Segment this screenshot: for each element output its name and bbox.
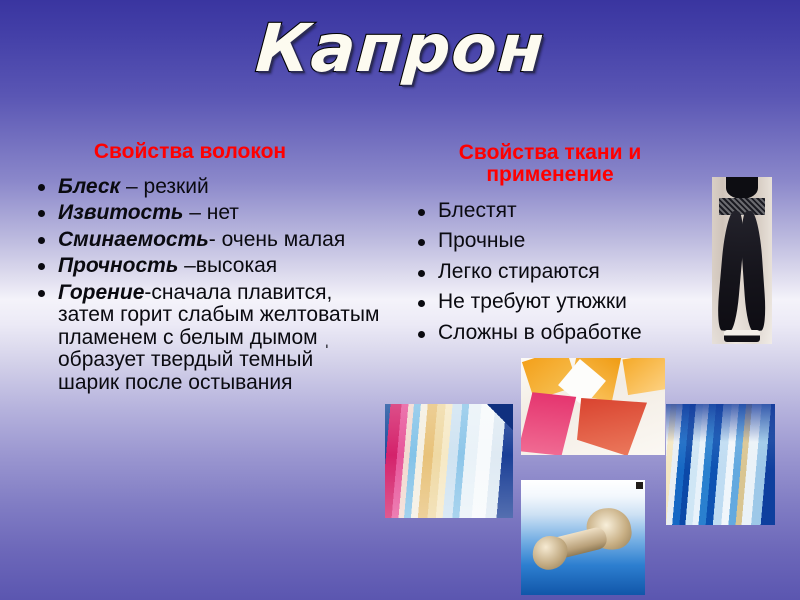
object-corner-marker xyxy=(636,482,643,489)
blue-fabric-photo xyxy=(666,404,775,525)
list-item: Блестят xyxy=(410,200,710,222)
stockings-shoe xyxy=(724,330,760,342)
bullet-keyword: Извитость xyxy=(58,201,183,224)
page-title: Капрон xyxy=(243,12,557,92)
stockings-right-leg xyxy=(739,210,767,331)
right-column-heading: Свойства ткани и применение xyxy=(400,142,700,185)
stockings-photo xyxy=(712,177,772,344)
list-item: Сминаемость- очень малая xyxy=(32,229,380,251)
blouse-red-scarf xyxy=(577,398,647,455)
bullet-keyword: Горение xyxy=(58,281,144,304)
list-item: Прочность –высокая xyxy=(32,255,380,277)
list-item: Извитость – нет xyxy=(32,202,380,224)
bullet-keyword: Прочность xyxy=(58,254,178,277)
presentation-slide: Капрон Свойства волокон Блеск – резкий И… xyxy=(0,0,800,600)
right-column-heading-line2: применение xyxy=(400,164,700,186)
stockings-brief-shape xyxy=(726,177,758,199)
slide-title-container: Капрон xyxy=(0,12,800,92)
list-item: Сложны в обработке xyxy=(410,322,710,344)
list-item: Не требуют утюжки xyxy=(410,291,710,313)
fabric-properties-list: Блестят Прочные Легко стираются Не требу… xyxy=(410,200,710,352)
bullet-text: –высокая xyxy=(178,254,277,277)
list-item: Блеск – резкий xyxy=(32,176,380,198)
left-column-heading: Свойства волокон xyxy=(40,141,340,163)
blouse-photo xyxy=(521,358,665,455)
list-item: Горение-сначала плавится, затем горит сл… xyxy=(32,282,380,394)
bullet-text: – нет xyxy=(183,201,239,224)
fiber-properties-list: Блеск – резкий Извитость – нет Сминаемос… xyxy=(32,176,380,398)
blouse-pink-scarf xyxy=(521,392,576,455)
bullet-keyword: Блеск xyxy=(58,175,120,198)
blouse-orange-scarf-right xyxy=(622,358,665,395)
fabric-corner-shade xyxy=(487,404,513,430)
bullet-text: - очень малая xyxy=(209,228,345,251)
fiber-object-photo xyxy=(521,480,645,595)
list-item: Легко стираются xyxy=(410,261,710,283)
right-column-heading-line1: Свойства ткани и xyxy=(400,142,700,164)
list-item: Прочные xyxy=(410,230,710,252)
colorful-fabrics-photo xyxy=(385,404,513,518)
stockings-lace-band xyxy=(719,198,765,215)
bullet-keyword: Сминаемость xyxy=(58,228,209,251)
blue-fabric-sky xyxy=(666,404,775,442)
bullet-text: – резкий xyxy=(120,175,209,198)
